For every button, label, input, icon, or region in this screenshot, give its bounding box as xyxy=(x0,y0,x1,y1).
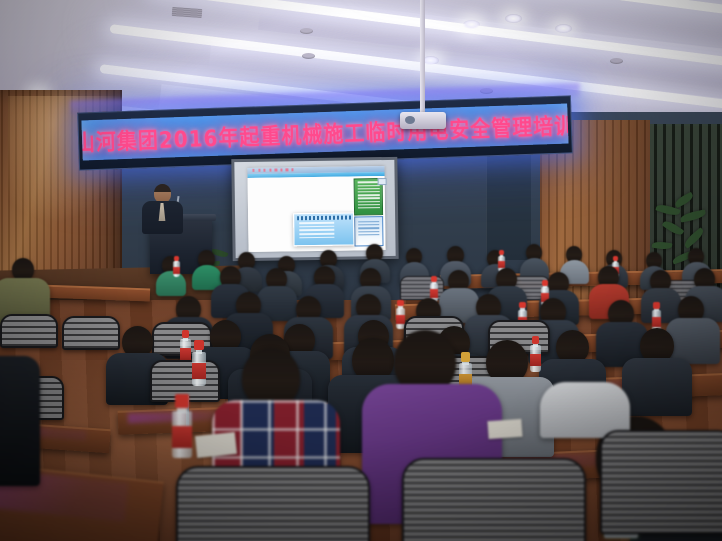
notepad[interactable] xyxy=(195,432,237,458)
chair xyxy=(62,316,120,350)
downlight-icon xyxy=(505,14,522,23)
ceiling-projector xyxy=(400,112,446,129)
water-bottle xyxy=(192,340,206,386)
downlight-icon xyxy=(463,20,480,29)
smoke-detector-icon xyxy=(610,58,623,64)
smoke-detector-icon xyxy=(302,53,315,59)
air-vent xyxy=(172,7,203,18)
chair xyxy=(600,430,722,534)
conference-room-photo: 山河集团2016年起重机械施工临时用电安全管理培训 xyxy=(0,0,722,541)
app-blue-panel xyxy=(354,216,384,246)
downlight-icon xyxy=(555,24,572,33)
app-dialog xyxy=(293,213,355,246)
app-dialog-header xyxy=(297,216,351,220)
water-bottle xyxy=(530,336,541,372)
presenter xyxy=(140,184,184,232)
chair xyxy=(0,314,58,348)
app-tray-icon xyxy=(377,178,386,186)
smoke-detector-icon xyxy=(300,28,313,34)
chair xyxy=(176,466,370,541)
projected-app-window xyxy=(247,166,386,252)
notepad[interactable] xyxy=(487,419,522,439)
led-banner-screen: 山河集团2016年起重机械施工临时用电安全管理培训 xyxy=(81,104,568,161)
projector-mount-pole xyxy=(420,0,425,118)
water-bottle xyxy=(172,394,192,458)
led-banner-text: 山河集团2016年起重机械施工临时用电安全管理培训 xyxy=(81,107,568,157)
chair xyxy=(402,458,586,541)
water-bottle xyxy=(173,256,180,277)
wall-alcove xyxy=(486,150,531,260)
